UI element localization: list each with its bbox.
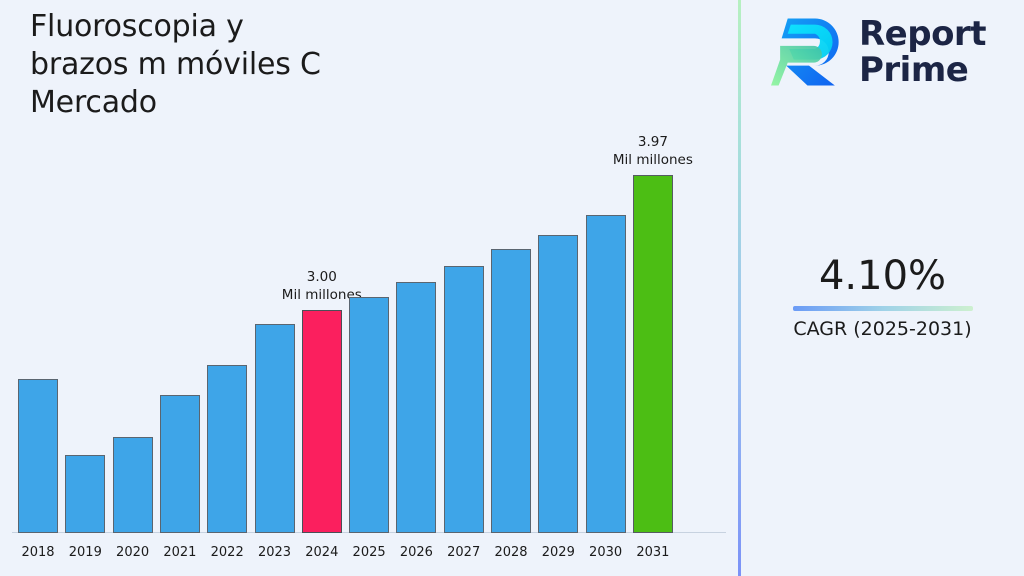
cagr-value: 4.10% (741, 252, 1024, 300)
bar-group-2025: 2025 (349, 297, 389, 533)
bar-chart-plot: 2018201920202021202220233.00Mil millones… (0, 0, 738, 576)
bar-2019 (65, 455, 105, 533)
x-tick-2019: 2019 (69, 545, 102, 560)
x-tick-2020: 2020 (116, 545, 149, 560)
bar-2020 (113, 437, 153, 533)
chart-panel: Fluoroscopia y brazos m móviles C Mercad… (0, 0, 738, 576)
bar-group-2024: 3.00Mil millones2024 (302, 310, 342, 533)
report-prime-logo[interactable]: Report Prime (771, 12, 986, 92)
bar-2023 (255, 324, 295, 533)
bar-group-2022: 2022 (207, 365, 247, 533)
bar-group-2026: 2026 (396, 282, 436, 533)
bar-value-label-2031: 3.97Mil millones (613, 133, 693, 169)
bar-2022 (207, 365, 247, 533)
bar-group-2027: 2027 (444, 266, 484, 533)
brand-panel: Report Prime 4.10% CAGR (2025-2031) (741, 0, 1024, 576)
bar-2029 (538, 235, 578, 533)
report-prime-mark-icon (771, 12, 847, 92)
bar-value-number-2031: 3.97 (613, 133, 693, 151)
bar-group-2018: 2018 (18, 379, 58, 533)
bar-2018 (18, 379, 58, 533)
x-tick-2022: 2022 (211, 545, 244, 560)
bar-2030 (586, 215, 626, 533)
bar-group-2023: 2023 (255, 324, 295, 533)
x-tick-2028: 2028 (494, 545, 527, 560)
bar-group-2019: 2019 (65, 455, 105, 533)
bar-2024 (302, 310, 342, 533)
bar-2026 (396, 282, 436, 533)
bar-2025 (349, 297, 389, 533)
cagr-caption: CAGR (2025-2031) (741, 317, 1024, 341)
bar-group-2021: 2021 (160, 395, 200, 533)
bar-group-2028: 2028 (491, 249, 531, 533)
brand-wordmark: Report Prime (859, 16, 986, 88)
bar-2027 (444, 266, 484, 533)
x-tick-2025: 2025 (353, 545, 386, 560)
x-tick-2018: 2018 (21, 545, 54, 560)
cagr-block: 4.10% CAGR (2025-2031) (741, 252, 1024, 341)
chart-page: Fluoroscopia y brazos m móviles C Mercad… (0, 0, 1024, 576)
x-tick-2030: 2030 (589, 545, 622, 560)
bar-group-2020: 2020 (113, 437, 153, 533)
bar-group-2031: 3.97Mil millones2031 (633, 175, 673, 533)
x-tick-2029: 2029 (542, 545, 575, 560)
bar-2031 (633, 175, 673, 533)
bar-2021 (160, 395, 200, 533)
bar-2028 (491, 249, 531, 533)
x-tick-2031: 2031 (636, 545, 669, 560)
x-tick-2023: 2023 (258, 545, 291, 560)
bar-group-2029: 2029 (538, 235, 578, 533)
bar-group-2030: 2030 (586, 215, 626, 533)
x-tick-2027: 2027 (447, 545, 480, 560)
cagr-divider-rule (793, 306, 973, 311)
x-tick-2021: 2021 (163, 545, 196, 560)
bar-value-number-2024: 3.00 (282, 268, 362, 286)
x-tick-2026: 2026 (400, 545, 433, 560)
x-tick-2024: 2024 (305, 545, 338, 560)
bar-value-unit-2031: Mil millones (613, 151, 693, 169)
